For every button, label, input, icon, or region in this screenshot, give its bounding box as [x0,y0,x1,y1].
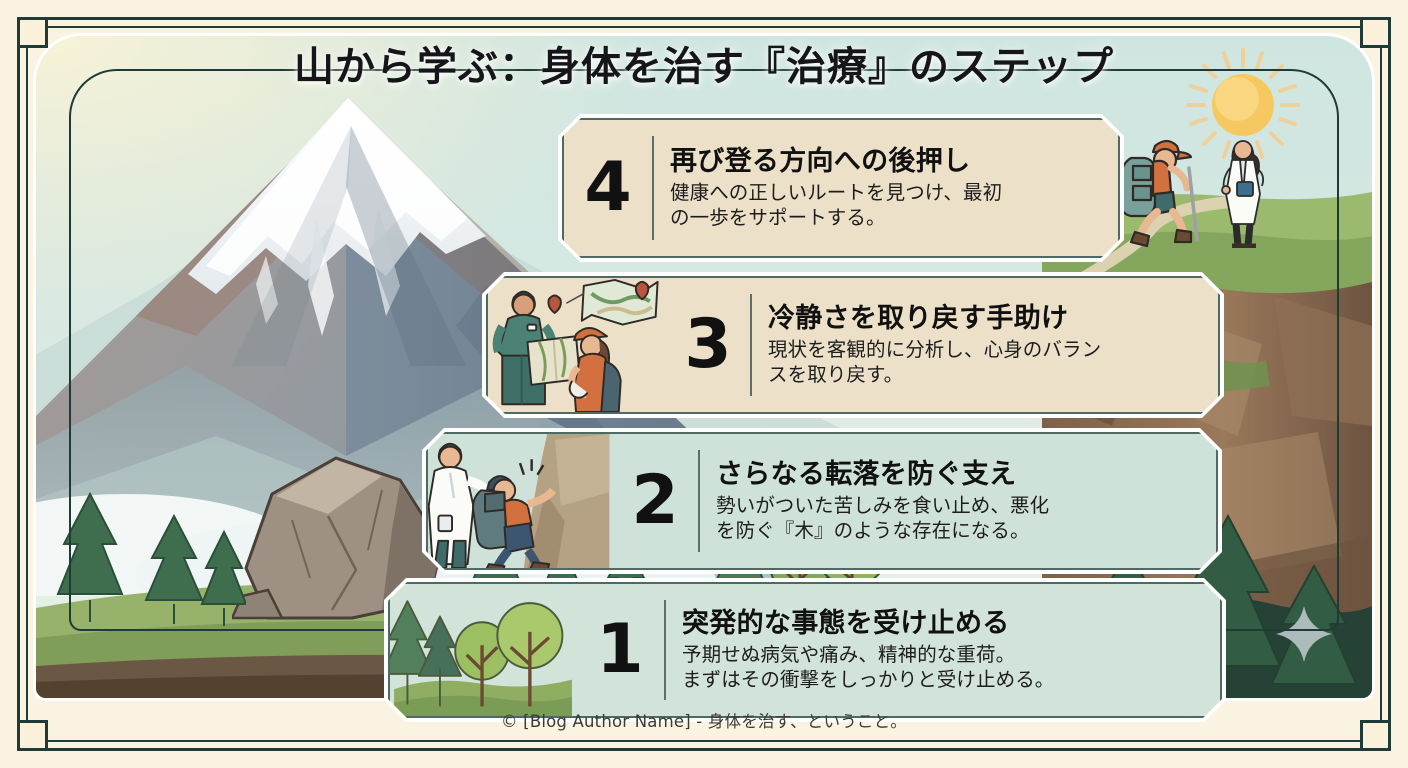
footer: © [Blog Author Name] - 身体を治す、ということ。 [0,700,1408,740]
doctor-supporting-falling-hiker-icon [428,434,612,568]
step-body-2-line2: を防ぐ『木』のような存在になる。 [716,518,1202,543]
step-divider [698,450,700,552]
doctor-with-clipboard-icon [1210,128,1276,248]
step-heading-3: 冷静さを取り戻す手助け [768,303,1204,334]
step-number-4: 4 [564,120,652,256]
step-card-3[interactable]: 3 冷静さを取り戻す手助け 現状を客観的に分析し、心身のバラン スを取り戻す。 [482,272,1224,418]
corner-ornament-top-right [1360,17,1391,48]
step-divider [652,136,654,240]
sparkle-icon [1276,606,1332,662]
step-body-1-line2: まずはその衝撃をしっかりと受け止める。 [682,667,1206,692]
pine-trees-left [56,482,246,632]
step-card-4[interactable]: 4 再び登る方向への後押し 健康への正しいルートを見つけ、最初 の一歩をサポート… [558,114,1124,262]
step-body-1-line1: 予期せぬ病気や痛み、精神的な重荷。 [682,642,1206,667]
step-heading-4: 再び登る方向への後押し [670,146,1104,177]
doctor-and-hiker-reading-map-icon [488,278,666,412]
step-body-4-line2: の一歩をサポートする。 [670,205,1104,230]
infographic-canvas: 山から学ぶ：身体を治す『治療』のステップ 4 再び登る方向への後押し 健康への正… [0,0,1408,768]
step-divider [750,294,752,396]
step-number-2: 2 [612,434,698,568]
step-card-2[interactable]: 2 さらなる転落を防ぐ支え 勢いがついた苦しみを食い止め、悪化 を防ぐ『木』のよ… [422,428,1222,574]
step-divider [664,600,666,700]
corner-ornament-bottom-right [1360,720,1391,751]
step-heading-1: 突発的な事態を受け止める [682,608,1206,639]
forest-trees-icon [390,584,576,716]
step-number-1: 1 [576,584,664,716]
step-body-4-line1: 健康への正しいルートを見つけ、最初 [670,180,1104,205]
corner-ornament-bottom-left [17,720,48,751]
step-number-3: 3 [666,278,750,412]
footer-credit: © [Blog Author Name] - 身体を治す、ということ。 [501,708,907,732]
step-body-2-line1: 勢いがついた苦しみを食い止め、悪化 [716,493,1202,518]
page-title: 山から学ぶ：身体を治す『治療』のステップ [0,34,1408,92]
step-body-3-line2: スを取り戻す。 [768,362,1204,387]
corner-ornament-top-left [17,17,48,48]
step-body-3-line1: 現状を客観的に分析し、心身のバラン [768,337,1204,362]
step-heading-2: さらなる転落を防ぐ支え [716,459,1202,490]
